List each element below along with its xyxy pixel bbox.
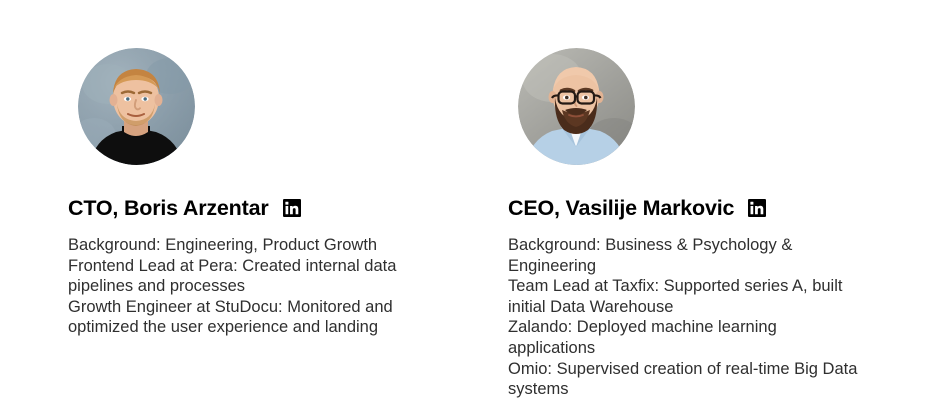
- avatar-photo-icon: [78, 48, 195, 165]
- avatar: [518, 48, 635, 165]
- team-members-grid: CTO, Boris Arzentar Background: Engineer…: [0, 0, 948, 412]
- member-bio: Background: Engineering, Product Growth …: [68, 235, 418, 338]
- avatar-photo-icon: [518, 48, 635, 165]
- team-member-card: CTO, Boris Arzentar Background: Engineer…: [68, 0, 508, 412]
- member-name-row: CEO, Vasilije Markovic: [508, 196, 766, 220]
- member-bio: Background: Business & Psychology & Engi…: [508, 235, 860, 400]
- team-member-card: CEO, Vasilije Markovic Background: Busin…: [508, 0, 948, 412]
- linkedin-icon[interactable]: [748, 199, 766, 217]
- avatar: [78, 48, 195, 165]
- page-title: CTO, Boris Arzentar: [68, 196, 269, 220]
- page-title: CEO, Vasilije Markovic: [508, 196, 734, 220]
- linkedin-icon[interactable]: [283, 199, 301, 217]
- member-name-row: CTO, Boris Arzentar: [68, 196, 301, 220]
